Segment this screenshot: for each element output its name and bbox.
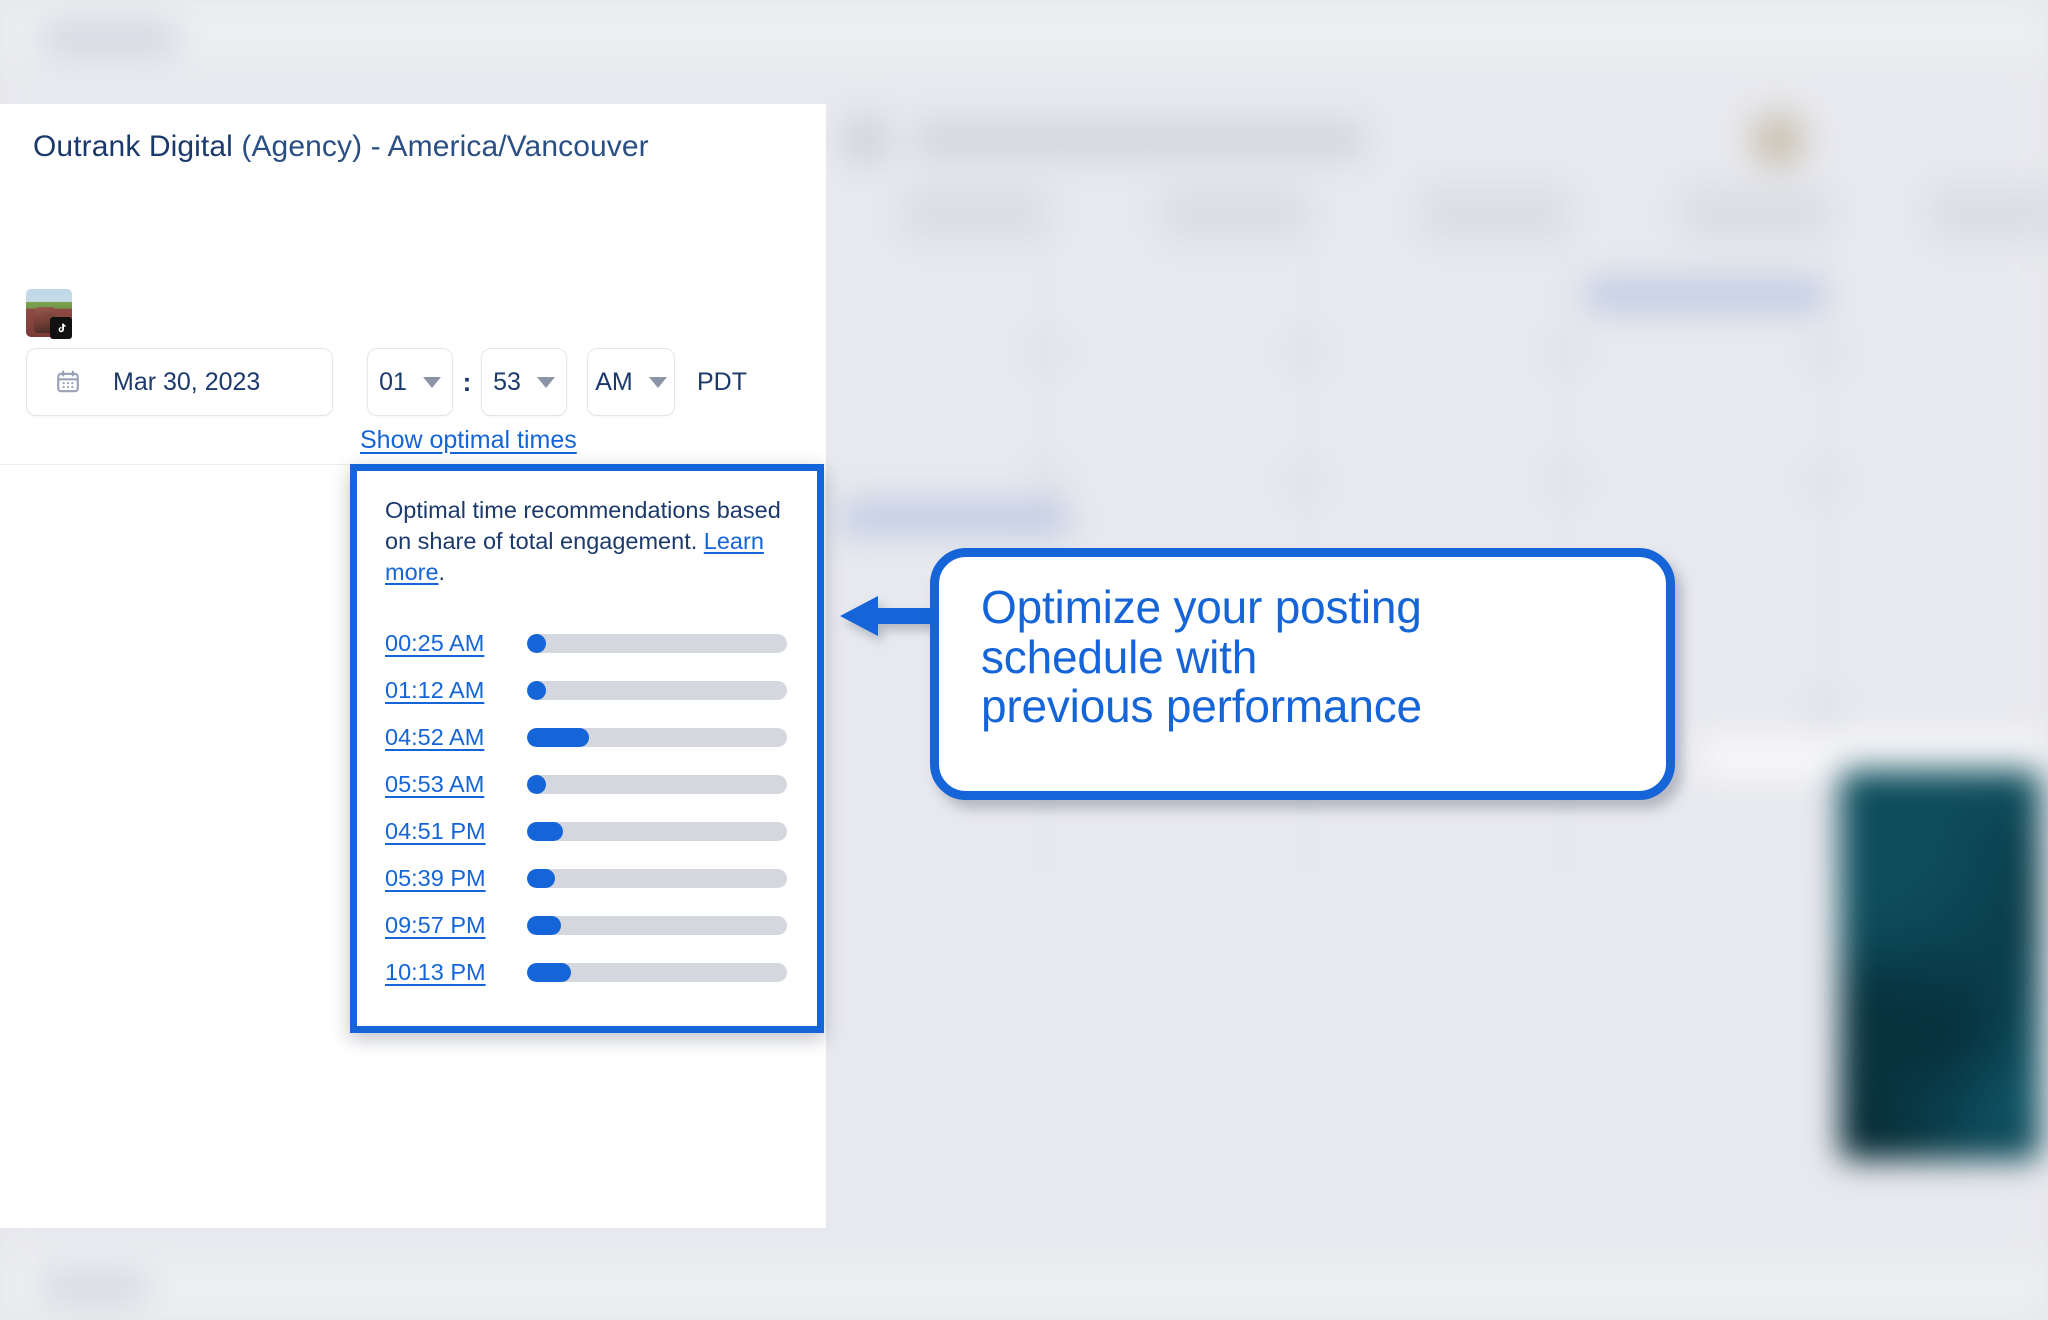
optimal-time-row: 09:57 PM <box>385 902 787 949</box>
bg-media-thumbnail <box>1840 770 2040 1160</box>
engagement-bar-fill <box>527 869 556 888</box>
optimal-time-row: 04:51 PM <box>385 808 787 855</box>
engagement-bar-fill <box>527 775 546 794</box>
bg-top-bar-pill <box>40 22 180 54</box>
optimal-time-link[interactable]: 00:25 AM <box>385 630 527 657</box>
optimal-time-row: 10:13 PM <box>385 949 787 996</box>
tiktok-icon <box>50 317 72 339</box>
schedule-modal: Outrank Digital (Agency) - America/Vanco… <box>0 104 826 1228</box>
optimal-time-row: 05:53 AM <box>385 761 787 808</box>
optimal-times-description: Optimal time recommendations based on sh… <box>385 495 787 588</box>
optimal-time-link[interactable]: 09:57 PM <box>385 912 527 939</box>
bg-cell-dot <box>1812 690 1838 734</box>
optimal-times-panel: Optimal time recommendations based on sh… <box>350 464 824 1033</box>
engagement-bar-fill <box>527 822 563 841</box>
engagement-bar-fill <box>527 963 571 982</box>
optimal-time-link[interactable]: 05:53 AM <box>385 771 527 798</box>
bg-event-pill <box>1585 277 1825 313</box>
engagement-bar-track <box>527 822 787 841</box>
optimal-time-link[interactable]: 04:52 AM <box>385 724 527 751</box>
annotation-callout-text: Optimize your posting schedule with prev… <box>981 583 1651 732</box>
bg-cell-dot <box>1292 460 1318 504</box>
engagement-bar-track <box>527 728 787 747</box>
bg-bottom-bar-pill <box>40 1274 150 1302</box>
bg-cell-dot <box>1552 330 1578 374</box>
timezone-label: PDT <box>697 368 747 397</box>
callout-arrow-icon <box>838 588 944 644</box>
bg-cell-dot <box>1032 460 1058 504</box>
engagement-bar-track <box>527 775 787 794</box>
annotation-callout: Optimize your posting schedule with prev… <box>930 548 1675 800</box>
date-input[interactable]: Mar 30, 2023 <box>26 348 333 416</box>
optimal-times-list: 00:25 AM01:12 AM04:52 AM05:53 AM04:51 PM… <box>385 620 787 996</box>
meridiem-value: AM <box>595 368 633 397</box>
bg-cell-dot <box>1812 460 1838 504</box>
engagement-bar-track <box>527 963 787 982</box>
optimal-time-row: 00:25 AM <box>385 620 787 667</box>
engagement-bar-track <box>527 681 787 700</box>
optimal-time-row: 04:52 AM <box>385 714 787 761</box>
page-title: Outrank Digital (Agency) - America/Vanco… <box>33 130 649 164</box>
optimal-time-link[interactable]: 05:39 PM <box>385 865 527 892</box>
bg-day-column-header <box>1160 185 1310 241</box>
minute-value: 53 <box>493 368 521 397</box>
bg-day-column-header <box>1420 185 1570 241</box>
engagement-bar-track <box>527 869 787 888</box>
chevron-down-icon <box>649 377 667 388</box>
optimal-time-link[interactable]: 10:13 PM <box>385 959 527 986</box>
bg-cell-dot <box>1812 330 1838 374</box>
optimal-time-row: 05:39 PM <box>385 855 787 902</box>
calendar-icon <box>55 369 81 395</box>
page-title-timezone: (Agency) - America/Vancouver <box>241 130 648 163</box>
bg-top-bar <box>0 0 2048 62</box>
chevron-down-icon <box>423 377 441 388</box>
date-value: Mar 30, 2023 <box>113 368 260 397</box>
bg-title-placeholder <box>914 120 1364 160</box>
bg-avatar-icon <box>840 114 892 166</box>
meridiem-select[interactable]: AM <box>587 348 675 416</box>
callout-line-2: schedule with <box>981 631 1257 683</box>
callout-line-1: Optimize your posting <box>981 581 1422 633</box>
bg-cell-dot <box>1552 460 1578 504</box>
bg-day-column-header <box>900 185 1050 241</box>
optimal-time-link[interactable]: 04:51 PM <box>385 818 527 845</box>
bg-profile-avatar <box>1750 112 1806 168</box>
period: . <box>439 559 446 585</box>
bg-cell-dot <box>1032 330 1058 374</box>
engagement-bar-track <box>527 916 787 935</box>
datetime-controls: Mar 30, 2023 01 : 53 AM PDT <box>26 348 747 416</box>
show-optimal-times-link[interactable]: Show optimal times <box>360 426 577 455</box>
bg-day-column-header <box>1680 185 1830 241</box>
engagement-bar-fill <box>527 728 589 747</box>
bg-account-header <box>840 110 1400 170</box>
page-title-account: Outrank Digital <box>33 130 233 163</box>
optimal-time-row: 01:12 AM <box>385 667 787 714</box>
engagement-bar-fill <box>527 634 546 653</box>
engagement-bar-fill <box>527 916 561 935</box>
engagement-bar-fill <box>527 681 546 700</box>
optimal-time-link[interactable]: 01:12 AM <box>385 677 527 704</box>
optimal-desc-line1: Optimal time recommendations <box>385 497 710 523</box>
time-separator: : <box>453 367 481 398</box>
bg-bottom-bar <box>0 1258 2048 1320</box>
chevron-down-icon <box>537 377 555 388</box>
bg-event-pill <box>840 500 1070 536</box>
minute-select[interactable]: 53 <box>481 348 567 416</box>
bg-day-column-header <box>1930 185 2048 241</box>
callout-line-3: previous performance <box>981 680 1422 732</box>
engagement-bar-track <box>527 634 787 653</box>
hour-value: 01 <box>379 368 407 397</box>
hour-select[interactable]: 01 <box>367 348 453 416</box>
avatar[interactable] <box>26 289 72 337</box>
screenshot-root: Outrank Digital (Agency) - America/Vanco… <box>0 0 2048 1320</box>
bg-cell-dot <box>1292 330 1318 374</box>
